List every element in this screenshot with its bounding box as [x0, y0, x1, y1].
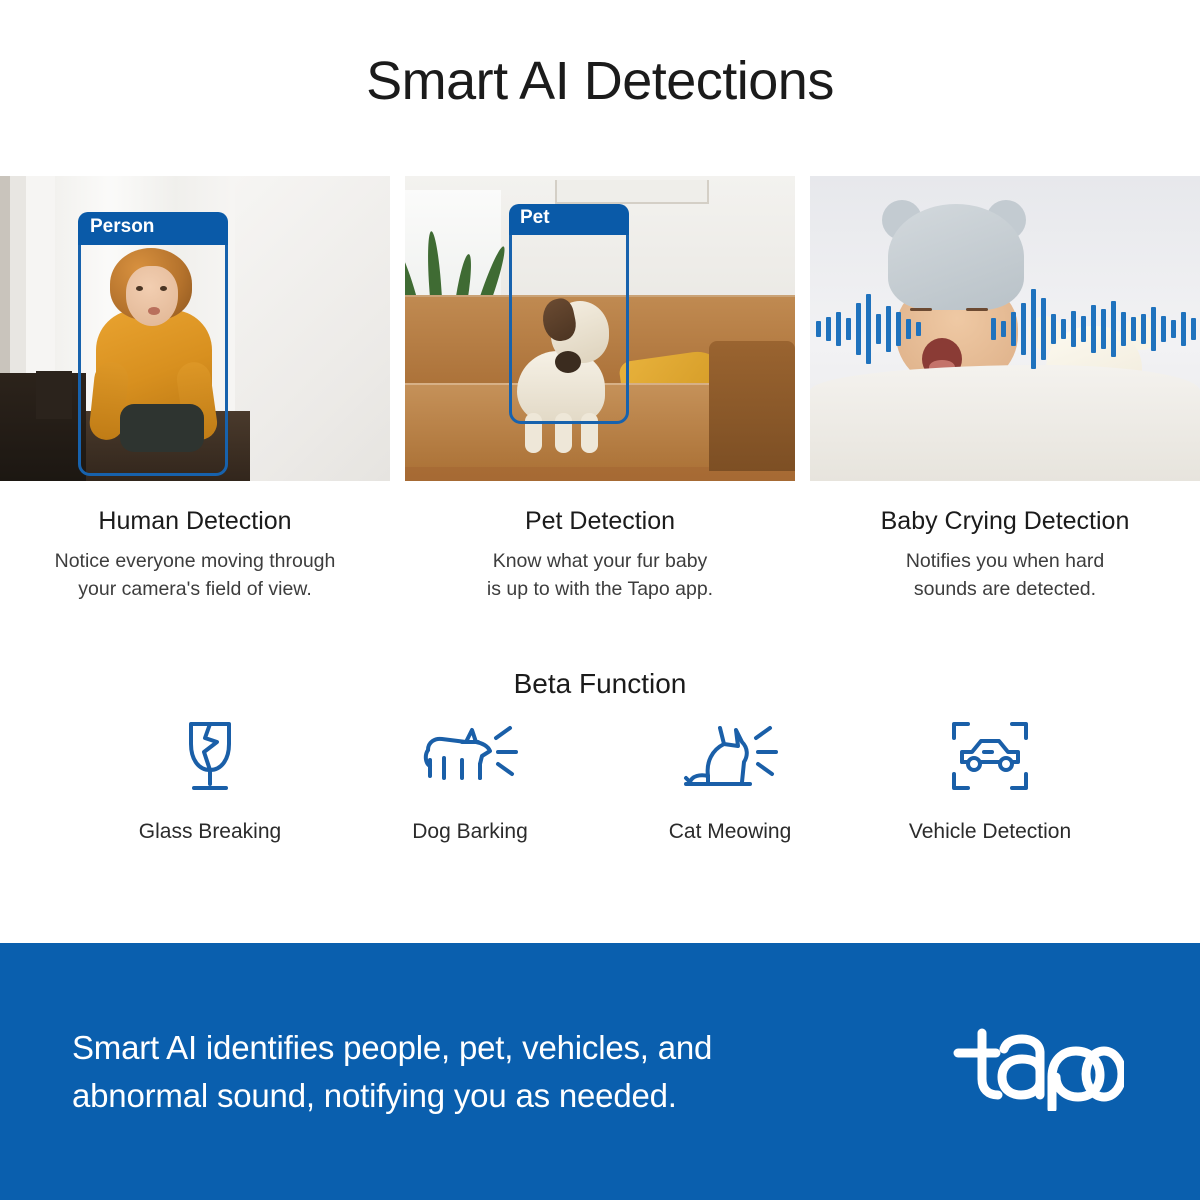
waveform-bar	[1141, 314, 1146, 344]
waveform-bar	[866, 294, 871, 364]
baby-crying-detection-photo	[810, 176, 1200, 481]
blanket-decor	[810, 365, 1200, 481]
person-detection-box: Person	[78, 212, 228, 476]
waveform-bar	[906, 319, 911, 339]
waveform-bar	[1161, 316, 1166, 342]
beta-label-glass-breaking: Glass Breaking	[139, 820, 281, 844]
beta-label-vehicle-detection: Vehicle Detection	[909, 820, 1071, 844]
waveform-bar	[1101, 309, 1106, 349]
beta-item-dog-barking[interactable]: Dog Barking	[355, 718, 585, 844]
waveform-bar	[1151, 307, 1156, 351]
human-detection-title: Human Detection	[98, 507, 291, 536]
human-detection-desc: Notice everyone moving through your came…	[55, 548, 336, 603]
waveform-bar	[1051, 314, 1056, 344]
page-title: Smart AI Detections	[0, 0, 1200, 111]
audio-waveform-right	[991, 289, 1196, 369]
waveform-bar	[1041, 298, 1046, 360]
waveform-bar	[1191, 318, 1196, 340]
pet-detection-title: Pet Detection	[525, 507, 675, 536]
person-detection-label: Person	[78, 212, 228, 245]
waveform-bar	[856, 303, 861, 355]
pet-detection-desc: Know what your fur baby is up to with th…	[487, 548, 713, 603]
dog-barking-icon	[418, 718, 522, 794]
beta-label-dog-barking: Dog Barking	[412, 820, 528, 844]
footer-banner: Smart AI identifies people, pet, vehicle…	[0, 943, 1200, 1200]
beta-function-title: Beta Function	[0, 668, 1200, 700]
waveform-bar	[1001, 321, 1006, 337]
baby-eye-right-shape	[966, 308, 988, 311]
feature-row: Person Human Detection Notice everyone m…	[0, 176, 1200, 603]
waveform-bar	[1111, 301, 1116, 357]
waveform-bar	[991, 318, 996, 340]
waveform-bar	[1081, 316, 1086, 342]
wall-decor	[235, 176, 390, 481]
baseboard-decor	[36, 371, 72, 419]
cat-meowing-icon	[680, 718, 780, 794]
waveform-bar	[916, 322, 921, 336]
waveform-bar	[876, 314, 881, 344]
vehicle-scan-icon	[950, 718, 1030, 794]
beta-label-cat-meowing: Cat Meowing	[669, 820, 792, 844]
feature-card-human-detection: Person Human Detection Notice everyone m…	[0, 176, 390, 603]
waveform-bar	[836, 312, 841, 346]
waveform-bar	[1031, 289, 1036, 369]
waveform-bar	[1011, 312, 1016, 346]
waveform-bar	[816, 321, 821, 337]
couch-armrest-decor	[709, 341, 795, 471]
waveform-bar	[1181, 312, 1186, 346]
pet-detection-photo: Pet	[405, 176, 795, 481]
waveform-bar	[1061, 319, 1066, 339]
pet-detection-label: Pet	[509, 204, 629, 235]
waveform-bar	[1021, 303, 1026, 355]
waveform-bar	[1121, 312, 1126, 346]
waveform-bar	[896, 312, 901, 346]
beta-item-vehicle-detection[interactable]: Vehicle Detection	[875, 718, 1105, 844]
waveform-bar	[1171, 320, 1176, 338]
picture-frame-decor	[555, 180, 709, 204]
beta-item-glass-breaking[interactable]: Glass Breaking	[95, 718, 325, 844]
waveform-bar	[886, 306, 891, 352]
tapo-logo	[952, 1027, 1124, 1116]
audio-waveform-left	[816, 294, 921, 364]
feature-card-pet-detection: Pet Pet Detection Know what your fur bab…	[405, 176, 795, 603]
waveform-bar	[1071, 311, 1076, 347]
feature-card-baby-crying-detection: Baby Crying Detection Notifies you when …	[810, 176, 1200, 603]
beta-item-cat-meowing[interactable]: Cat Meowing	[615, 718, 845, 844]
broken-glass-icon	[175, 718, 245, 794]
waveform-bar	[1131, 317, 1136, 341]
waveform-bar	[846, 318, 851, 340]
footer-tagline: Smart AI identifies people, pet, vehicle…	[72, 1024, 712, 1120]
beta-function-row: Glass Breaking Dog Barking Cat	[95, 718, 1105, 844]
waveform-bar	[1091, 305, 1096, 353]
baby-crying-detection-title: Baby Crying Detection	[881, 507, 1130, 536]
human-detection-photo: Person	[0, 176, 390, 481]
waveform-bar	[826, 317, 831, 341]
baby-crying-detection-desc: Notifies you when hard sounds are detect…	[906, 548, 1104, 603]
pet-detection-box: Pet	[509, 204, 629, 424]
